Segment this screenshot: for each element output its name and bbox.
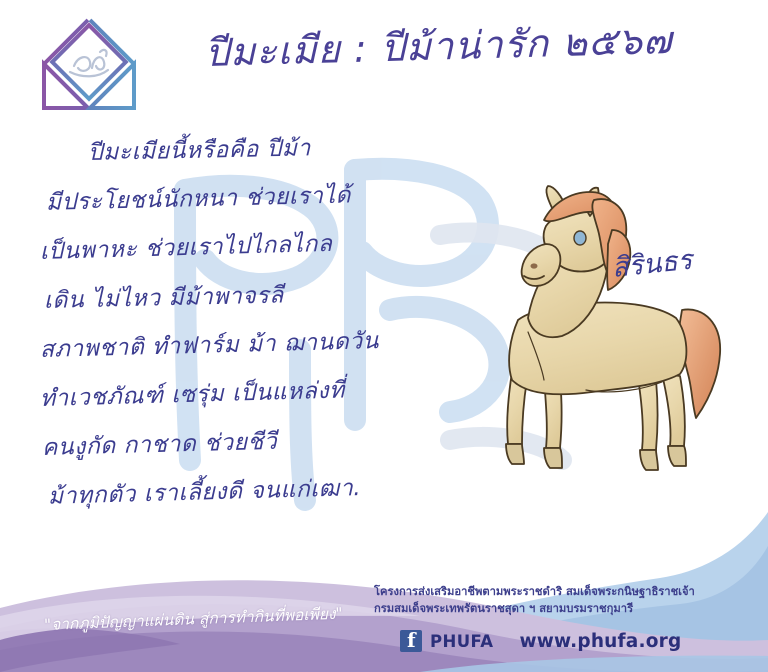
website-link[interactable]: www.phufa.org bbox=[519, 631, 681, 652]
organization-credit: โครงการส่งเสริมอาชีพตามพระราชดำริ สมเด็จ… bbox=[374, 583, 766, 617]
org-line: โครงการส่งเสริมอาชีพตามพระราชดำริ สมเด็จ… bbox=[374, 583, 766, 600]
card-body: ปีมะเมียนี้หรือคือ ปีม้า มีประโยชน์นักหน… bbox=[40, 130, 510, 522]
card-title: ปีมะเมีย : ปีม้าน่ารัก ๒๕๖๗ bbox=[204, 7, 750, 83]
social-links: PHUFA www.phufa.org bbox=[400, 628, 681, 654]
signature: สิรินธร bbox=[610, 238, 694, 289]
greeting-card: ปีมะเมีย : ปีม้าน่ารัก ๒๕๖๗ ปีมะเมียนี้ห… bbox=[0, 0, 768, 672]
facebook-icon[interactable] bbox=[400, 630, 422, 652]
hand-drawn-horse-illustration bbox=[466, 182, 734, 492]
org-line: กรมสมเด็จพระเทพรัตนราชสุดา ฯ สยามบรมราชก… bbox=[374, 600, 766, 617]
facebook-page-label[interactable]: PHUFA bbox=[430, 632, 493, 651]
envelope-diamond-logo bbox=[36, 18, 142, 110]
